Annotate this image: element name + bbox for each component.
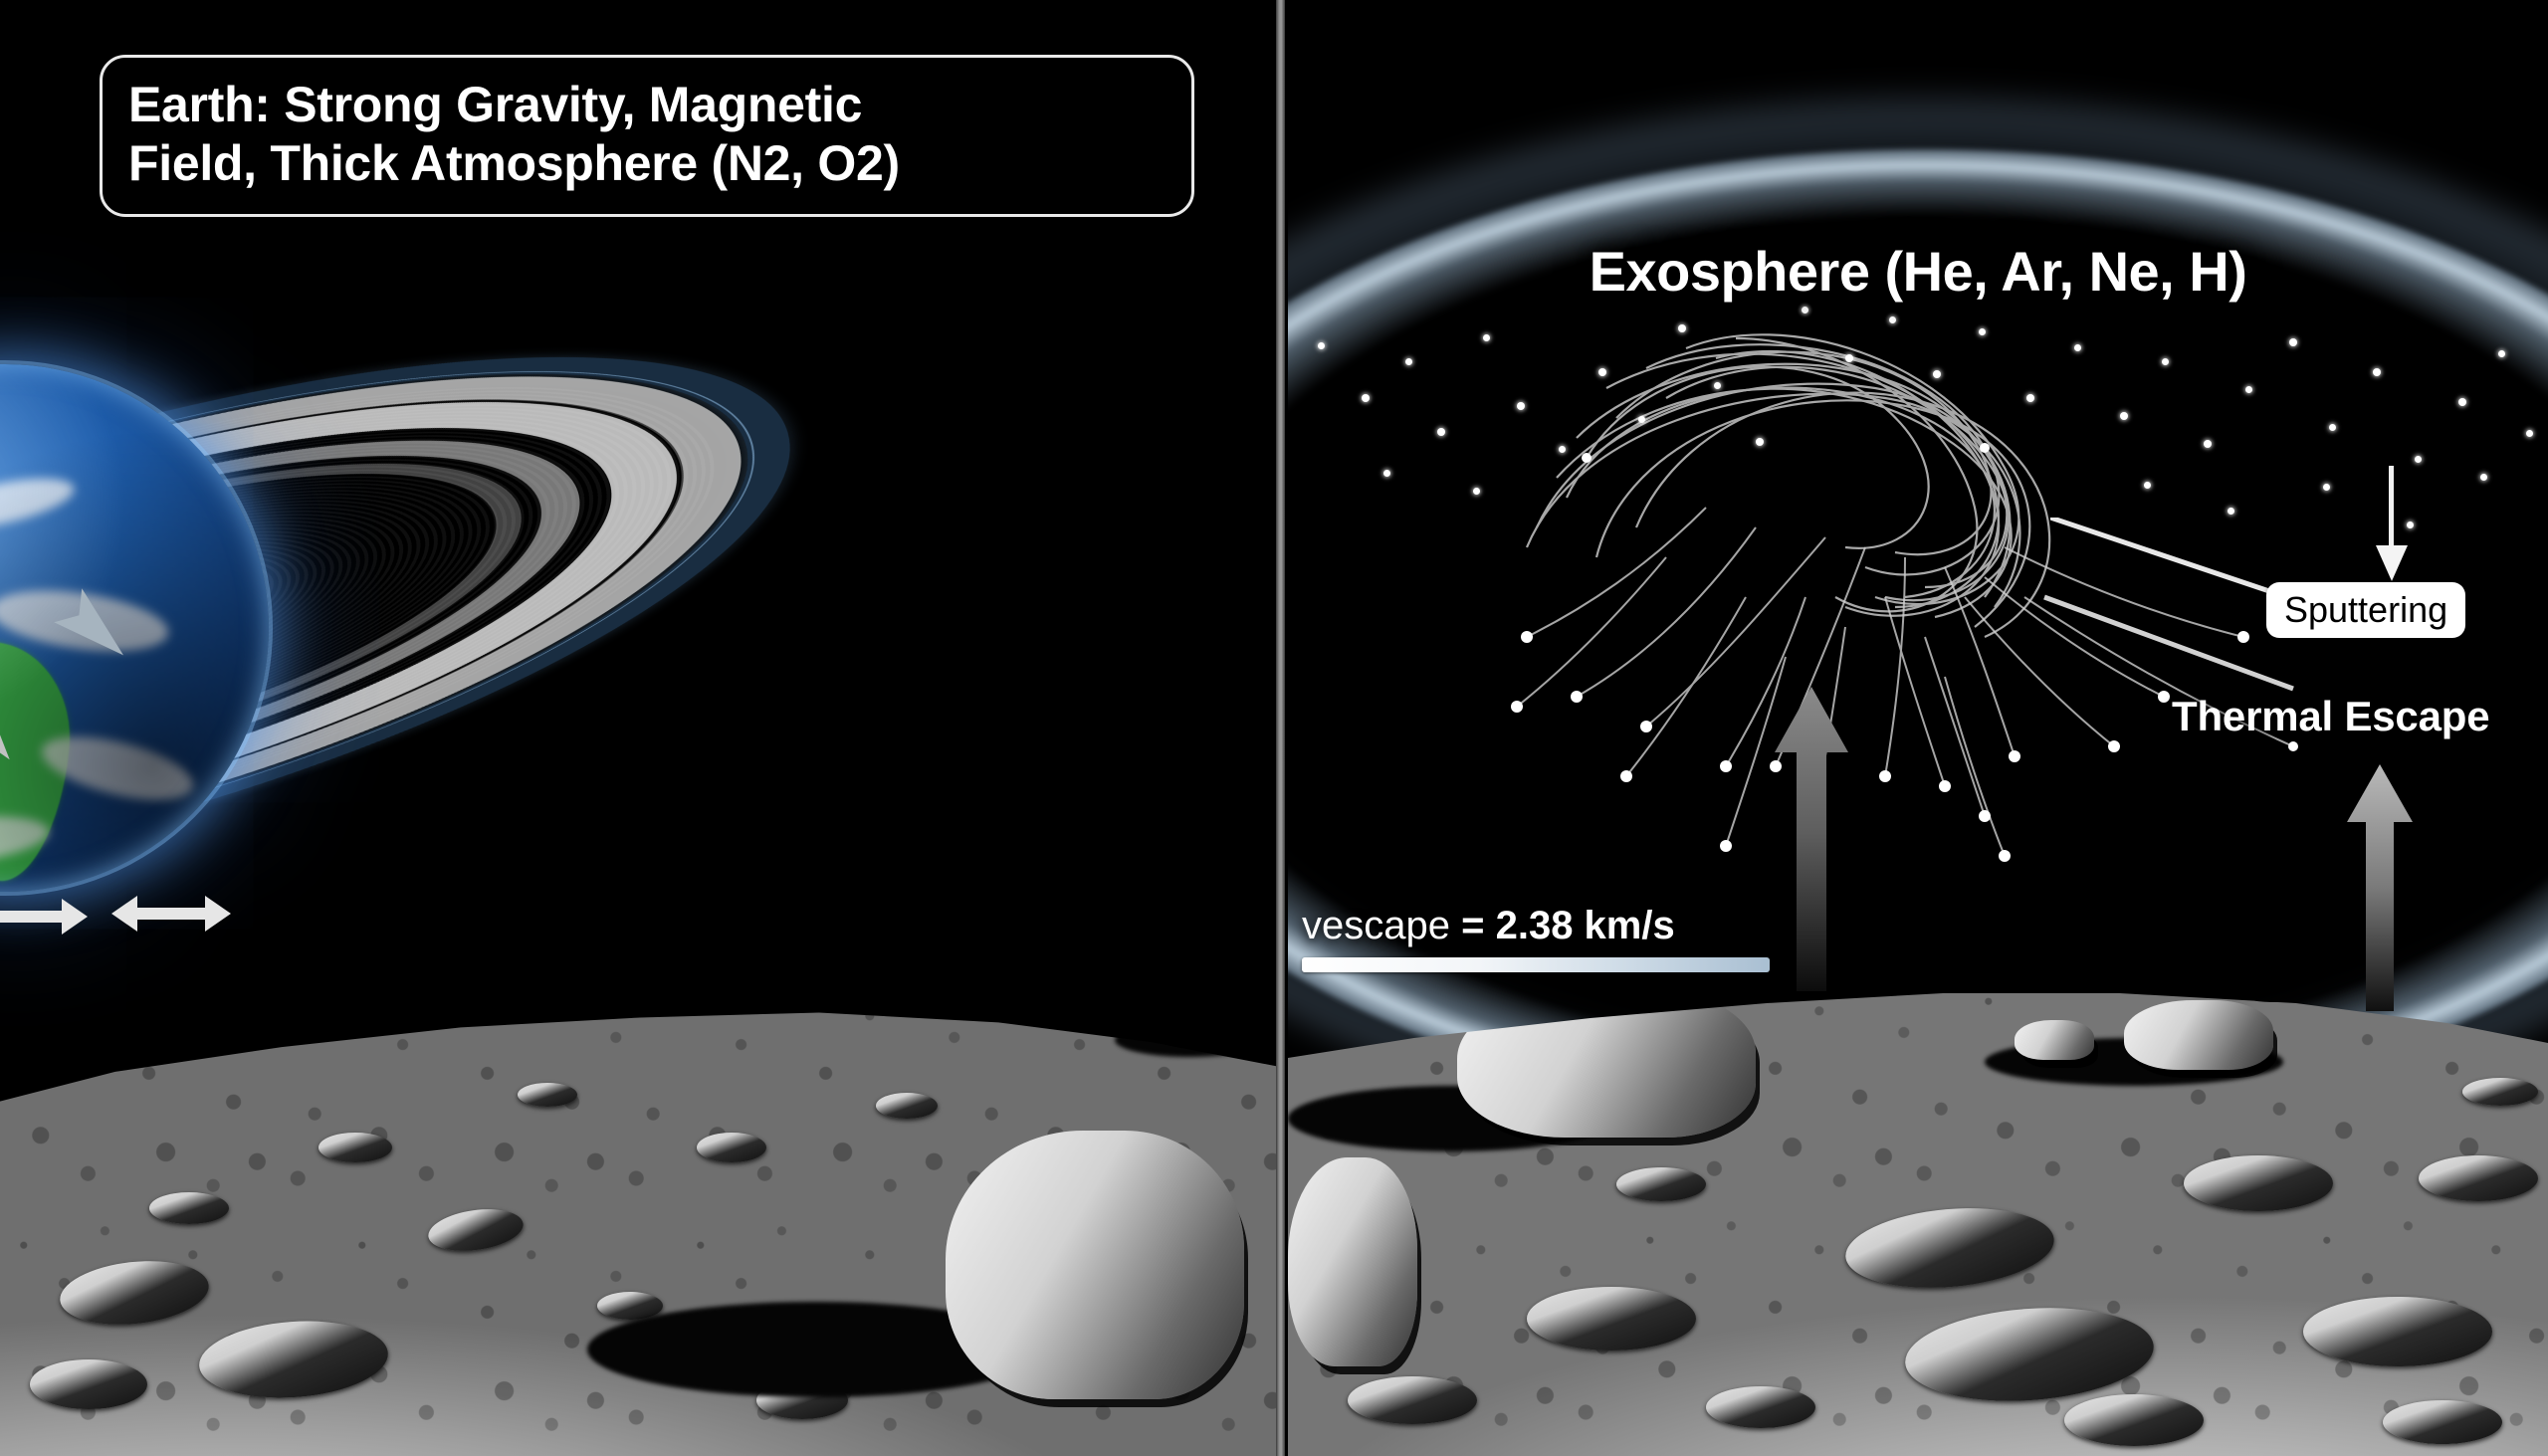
gas-particle	[2323, 484, 2330, 491]
boulder-small	[2015, 1020, 2094, 1060]
boulder-foreground	[1288, 1157, 1417, 1366]
boulder-shadow	[1115, 1023, 1264, 1057]
sputtering-badge: Sputtering	[2266, 582, 2465, 638]
earth-callout-line-1: Earth: Strong Gravity, Magnetic	[128, 76, 1166, 134]
gas-particle	[2526, 430, 2533, 437]
earth-ring-scene	[0, 169, 776, 1085]
lunar-surface-right	[1288, 958, 2548, 1456]
gas-particle	[1483, 334, 1490, 341]
gas-particle	[1638, 416, 1645, 423]
gas-particle	[2498, 350, 2505, 357]
gas-particle	[2373, 368, 2381, 376]
gas-particle	[1756, 438, 1764, 446]
gas-particle	[1559, 446, 1566, 453]
escape-velocity-readout: vescape = 2.38 km/s	[1302, 904, 1770, 972]
gas-particle	[2162, 358, 2169, 365]
cloud-band	[36, 725, 199, 812]
left-panel-earth: Earth: Strong Gravity, Magnetic Field, T…	[0, 0, 1280, 1456]
exosphere-title: Exosphere (He, Ar, Ne, H)	[1288, 239, 2548, 304]
gas-particle	[2144, 482, 2151, 489]
gas-particle	[1845, 354, 1853, 362]
gas-particle	[2228, 508, 2234, 515]
gas-particle	[1437, 428, 1445, 436]
gas-particle	[2074, 344, 2081, 351]
crater	[518, 1083, 577, 1107]
gas-particle	[1979, 328, 1986, 335]
gas-particle	[1714, 382, 1721, 389]
thermal-escape-label: Thermal Escape	[2172, 693, 2489, 740]
earth-callout-text: Earth: Strong Gravity, Magnetic Field, T…	[128, 76, 1166, 192]
escape-velocity-symbol: vescape	[1302, 904, 1450, 947]
sputtering-leader-line	[2050, 518, 2281, 601]
earth-callout-line-2: Field, Thick Atmosphere (N2, O2)	[128, 134, 1166, 193]
gas-particle	[2329, 424, 2336, 431]
earth-callout-box: Earth: Strong Gravity, Magnetic Field, T…	[100, 55, 1194, 217]
escape-velocity-value: 2.38 km/s	[1496, 904, 1675, 947]
thermal-escape-up-arrow-icon	[2347, 764, 2413, 1011]
boulder-medium	[2124, 1000, 2273, 1070]
panel-divider	[1276, 0, 1285, 1456]
gas-particle	[1678, 324, 1686, 332]
crater	[318, 1133, 392, 1162]
boulder-large	[946, 1131, 1244, 1399]
crater	[2383, 1400, 2502, 1444]
crater	[1348, 1376, 1477, 1424]
gas-particle	[2480, 474, 2487, 481]
crater	[30, 1359, 147, 1409]
escape-velocity-text: vescape = 2.38 km/s	[1302, 904, 1770, 948]
sputtering-down-arrow-icon	[2372, 466, 2412, 583]
gas-particle	[1405, 358, 1412, 365]
ring-width-double-arrow-icon	[111, 888, 231, 939]
crater	[2064, 1394, 2204, 1446]
crater	[1527, 1287, 1696, 1351]
crater	[2303, 1297, 2492, 1366]
gas-particle	[1473, 488, 1480, 495]
crater	[876, 1093, 938, 1119]
gas-particle	[2415, 456, 2422, 463]
gas-particle	[1889, 316, 1896, 323]
crater	[2184, 1155, 2333, 1211]
gas-particle	[1802, 307, 1808, 313]
crater	[2419, 1155, 2538, 1201]
escape-velocity-equals: =	[1461, 904, 1484, 947]
gas-particle	[1362, 394, 1370, 402]
crater	[1616, 1167, 1706, 1201]
crater	[2462, 1078, 2538, 1106]
gas-particle	[2120, 412, 2128, 420]
crater	[697, 1133, 766, 1162]
gas-particle	[2204, 440, 2212, 448]
gas-particle	[2026, 394, 2034, 402]
crater	[149, 1192, 229, 1224]
gas-particle	[1517, 402, 1525, 410]
boulder-small	[1035, 973, 1093, 1007]
gas-particle	[1318, 342, 1325, 349]
infographic-canvas: Earth: Strong Gravity, Magnetic Field, T…	[0, 0, 2548, 1456]
gas-particle	[1383, 470, 1390, 477]
gas-particle	[2245, 386, 2252, 393]
thermal-escape-up-arrow-icon	[1775, 687, 1848, 991]
cloud-band	[0, 808, 52, 874]
gas-particle	[2458, 398, 2466, 406]
gas-particle	[2289, 338, 2297, 346]
escape-velocity-bar	[1302, 957, 1770, 972]
crater	[1706, 1386, 1815, 1428]
gas-particle	[1598, 368, 1606, 376]
gas-particle	[1933, 370, 1941, 378]
cloud-band	[0, 469, 79, 538]
ring-width-double-arrow-icon	[0, 891, 88, 942]
